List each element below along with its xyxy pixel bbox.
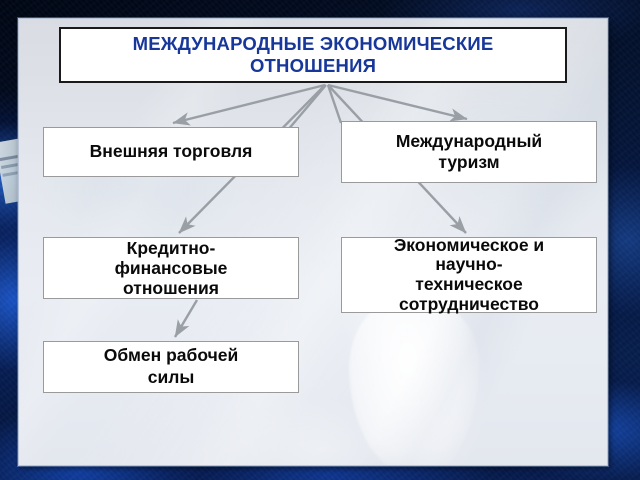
node-labor-exchange-line-2: силы — [104, 367, 238, 389]
node-labor-exchange-line-1: Обмен рабочей — [104, 345, 238, 367]
node-international-tourism[interactable]: Международный туризм — [341, 121, 597, 183]
node-labor-exchange[interactable]: Обмен рабочей силы — [43, 341, 299, 393]
arrow-title-to-international-tourism — [328, 85, 467, 119]
node-economic-scientific-line-3: техническое — [394, 275, 544, 295]
node-credit-financial-line-2: финансовые — [115, 258, 228, 278]
slide-screenshot: МЕЖДУНАРОДНЫЕ ЭКОНОМИЧЕСКИЕ ОТНОШЕНИЯ Вн… — [0, 0, 640, 480]
node-credit-financial-line-1: Кредитно- — [115, 238, 228, 258]
page-title-line-1: МЕЖДУНАРОДНЫЕ ЭКОНОМИЧЕСКИЕ — [133, 33, 494, 54]
node-international-tourism-line-2: туризм — [396, 152, 542, 173]
node-credit-financial-line-3: отношения — [115, 278, 228, 298]
node-credit-financial-relations[interactable]: Кредитно- финансовые отношения — [43, 237, 299, 299]
node-economic-scientific-line-4: сотрудничество — [394, 295, 544, 315]
node-economic-scientific-technical-cooperation[interactable]: Экономическое и научно- техническое сотр… — [341, 237, 597, 313]
node-economic-scientific-line-2: научно- — [394, 255, 544, 275]
node-international-tourism-line-1: Международный — [396, 131, 542, 152]
page-title: МЕЖДУНАРОДНЫЕ ЭКОНОМИЧЕСКИЕ ОТНОШЕНИЯ — [59, 27, 567, 83]
arrow-title-to-external-trade — [173, 85, 325, 123]
arrow-credit-to-labor-exchange — [175, 300, 197, 337]
page-title-line-2: ОТНОШЕНИЯ — [250, 55, 376, 76]
node-external-trade[interactable]: Внешняя торговля — [43, 127, 299, 177]
node-economic-scientific-line-1: Экономическое и — [394, 236, 544, 256]
node-external-trade-label: Внешняя торговля — [90, 142, 253, 162]
slide-panel: МЕЖДУНАРОДНЫЕ ЭКОНОМИЧЕСКИЕ ОТНОШЕНИЯ Вн… — [18, 18, 608, 466]
